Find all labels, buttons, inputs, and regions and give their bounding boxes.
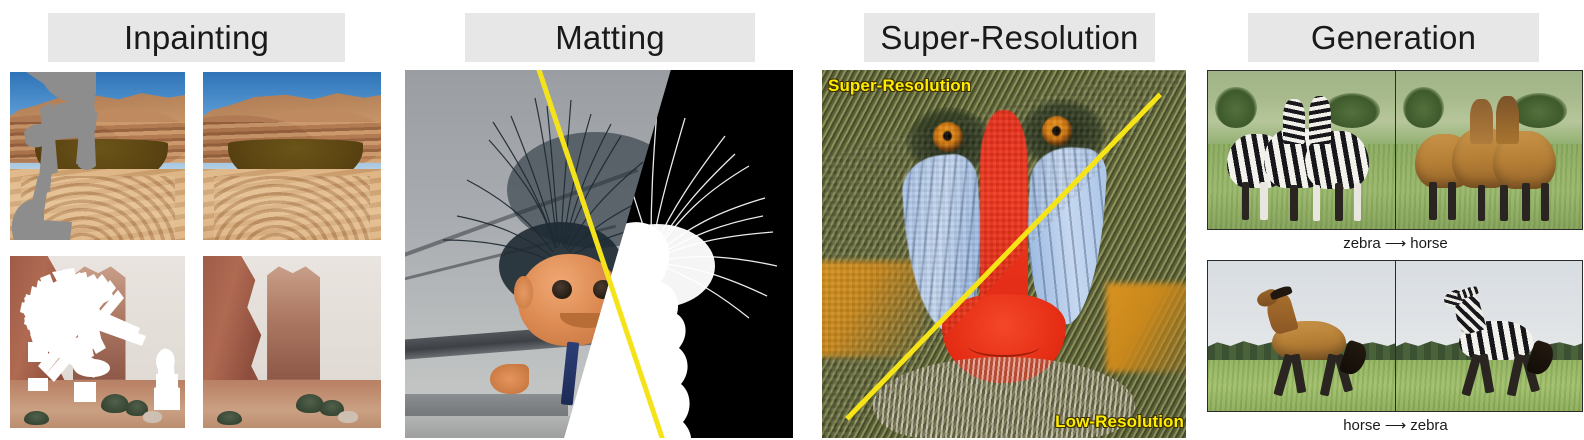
horse-neck (1470, 99, 1492, 143)
generation-source-horse (1208, 261, 1395, 411)
horse-neck (1496, 96, 1518, 143)
leg (1290, 185, 1297, 221)
arrow-icon: ⟶ (1385, 234, 1407, 252)
bush (217, 411, 242, 425)
caption-source: zebra (1343, 235, 1381, 252)
caption-target: zebra (1410, 417, 1448, 434)
panel-title-super-resolution: Super-Resolution (864, 13, 1155, 62)
mandrill-nostril-line (968, 335, 1041, 357)
arrow-icon: ⟶ (1385, 416, 1407, 434)
panel-title-generation: Generation (1248, 13, 1539, 62)
generation-caption-horse-to-zebra: horse⟶zebra (1207, 416, 1584, 434)
zebra-neck (1309, 96, 1331, 143)
leg (1354, 183, 1361, 221)
tree (1511, 93, 1567, 128)
troll-hand (490, 364, 529, 393)
leg (1260, 182, 1267, 220)
leg (1335, 183, 1342, 221)
panel-title-inpainting: Inpainting (48, 13, 345, 62)
super-resolution-mandrill: Super-Resolution Low-Resolution (822, 70, 1186, 438)
inpainting-mask-overlay (10, 72, 185, 240)
troll-eye (552, 280, 571, 299)
generation-pair-horse-to-zebra (1207, 260, 1583, 412)
zebra-neck (1283, 99, 1305, 143)
panel-matting (405, 70, 793, 438)
caption-target: horse (1410, 235, 1448, 252)
inpainting-output-canyon (203, 256, 381, 428)
pale-rock (338, 411, 358, 423)
label-low-resolution: Low-Resolution (1055, 412, 1184, 432)
generation-caption-zebra-to-horse: zebra⟶horse (1207, 234, 1584, 252)
leg (1522, 183, 1529, 221)
tree (1324, 93, 1380, 128)
sand-swirl-layer (214, 176, 371, 240)
tree (1403, 87, 1444, 128)
mid-canyon-rocks (267, 266, 320, 380)
generation-source-zebras (1208, 71, 1395, 229)
inpainting-mask-overlay (10, 256, 185, 428)
generation-result-horses (1395, 71, 1582, 229)
panel-title-matting: Matting (465, 13, 755, 62)
leg (1313, 185, 1320, 221)
leg (1500, 185, 1507, 221)
inpainting-input-desert-arch-masked (10, 72, 185, 240)
golden-fur-highlight (1106, 283, 1186, 371)
tree (1215, 87, 1256, 128)
caption-source: horse (1343, 417, 1381, 434)
generation-result-zebra (1395, 261, 1582, 411)
generation-pair-zebra-to-horse (1207, 70, 1583, 230)
leg (1448, 182, 1455, 220)
panel-super-resolution: Super-Resolution Low-Resolution (822, 70, 1186, 438)
panel-inpainting (0, 68, 390, 440)
label-super-resolution: Super-Resolution (828, 76, 971, 96)
inpainting-output-desert-arch (203, 72, 381, 240)
image-translation-tasks-figure: Inpainting (0, 0, 1584, 440)
leg (1429, 182, 1436, 220)
matting-composite (405, 70, 793, 438)
panel-generation: zebra⟶horse (1207, 68, 1584, 440)
inpainting-input-canyon-masked (10, 256, 185, 428)
leg (1478, 185, 1485, 221)
leg (1242, 182, 1249, 220)
troll-ear (514, 276, 533, 309)
leg (1541, 183, 1548, 221)
